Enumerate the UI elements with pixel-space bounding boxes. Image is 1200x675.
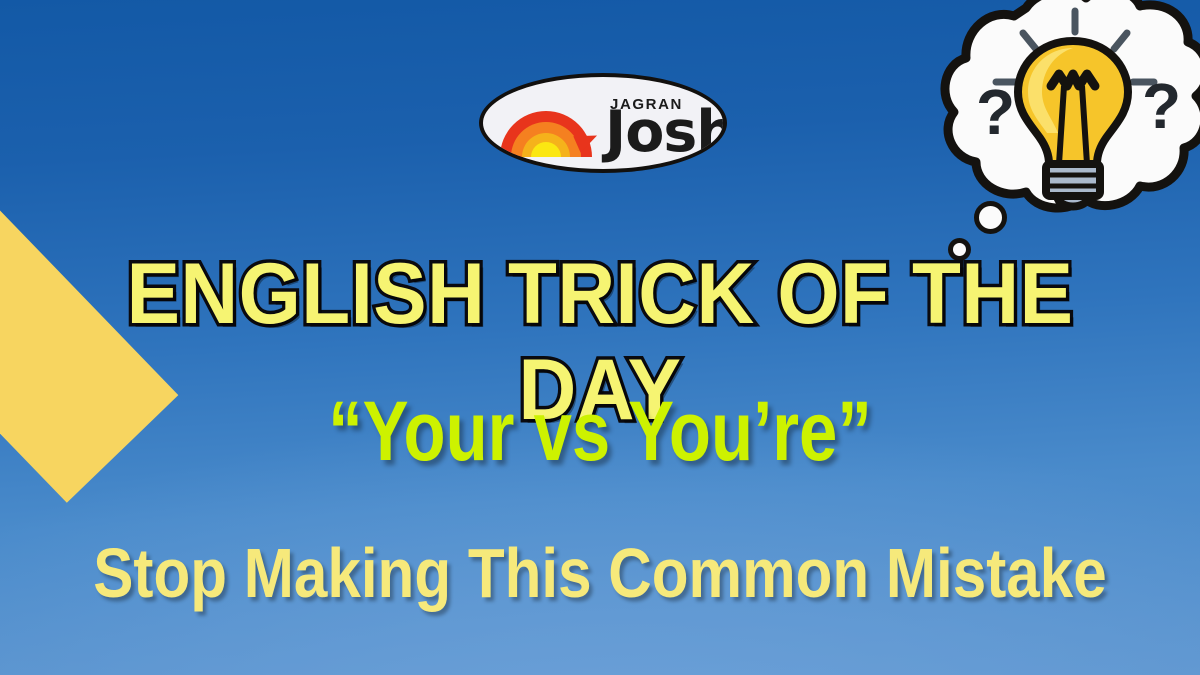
lightbulb-icon: [1018, 41, 1128, 207]
logo-josh-text: Josh: [605, 104, 727, 161]
headline-line-2: “Your vs You’re”: [108, 384, 1092, 478]
question-mark-left-icon: ?: [976, 76, 1015, 148]
thought-bubble-lightbulb: ? ?: [918, 0, 1200, 246]
jagran-josh-logo[interactable]: JAGRAN Josh: [479, 73, 727, 173]
idea-rays-icon: ? ?: [918, 0, 1200, 246]
question-mark-right-icon: ?: [1142, 70, 1181, 142]
sunburst-gauge-icon: [500, 105, 592, 157]
headline-line-3: Stop Making This Common Mistake: [84, 533, 1116, 613]
poster-canvas: JAGRAN Josh ? ?: [0, 0, 1200, 675]
thought-dot-large: [974, 201, 1007, 234]
